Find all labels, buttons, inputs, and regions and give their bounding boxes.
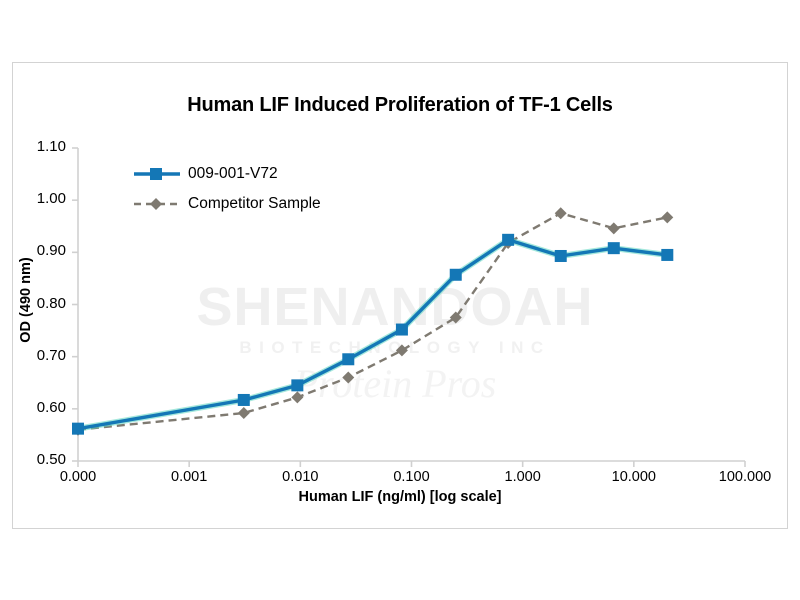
data-point-marker — [450, 269, 462, 281]
x-axis-tick-label: 10.000 — [589, 469, 679, 485]
legend-item-series-1: Competitor Sample — [133, 195, 321, 213]
data-point-marker — [661, 249, 673, 261]
y-axis-tick-label: 1.00 — [20, 190, 66, 207]
y-axis-tick-label: 0.70 — [20, 347, 66, 364]
data-point-marker — [555, 250, 567, 262]
x-axis-title: Human LIF (ng/ml) [log scale] — [0, 489, 800, 505]
legend-label-series-0: 009-001-V72 — [188, 165, 278, 183]
y-axis-tick-label: 0.60 — [20, 399, 66, 416]
data-point-marker — [342, 353, 354, 365]
y-axis-tick-label: 0.80 — [20, 295, 66, 312]
data-point-marker — [291, 379, 303, 391]
data-point-marker — [608, 242, 620, 254]
x-axis-tick-label: 0.010 — [255, 469, 345, 485]
data-point-marker — [342, 372, 354, 384]
series-line-1 — [78, 213, 667, 430]
series-line-0 — [78, 240, 667, 429]
y-axis-tick-label: 0.50 — [20, 451, 66, 468]
series-line-glow — [78, 240, 667, 429]
data-point-marker — [396, 324, 408, 336]
data-point-marker — [661, 211, 673, 223]
x-axis-tick-label: 0.100 — [367, 469, 457, 485]
data-point-marker — [396, 344, 408, 356]
y-axis-tick-label: 1.10 — [20, 138, 66, 155]
data-point-marker — [238, 394, 250, 406]
data-point-marker — [291, 391, 303, 403]
legend-swatch-series-1 — [133, 196, 181, 212]
data-point-marker — [238, 407, 250, 419]
x-axis-tick-label: 0.000 — [33, 469, 123, 485]
x-axis-tick-label: 0.001 — [144, 469, 234, 485]
data-point-marker — [608, 222, 620, 234]
data-point-marker — [72, 423, 84, 435]
legend-item-series-0: 009-001-V72 — [133, 165, 278, 183]
x-axis-tick-label: 100.000 — [700, 469, 790, 485]
y-axis-tick-label: 0.90 — [20, 242, 66, 259]
legend-swatch-series-0 — [133, 166, 181, 182]
chart-canvas — [0, 0, 800, 600]
data-point-marker — [555, 207, 567, 219]
legend-label-series-1: Competitor Sample — [188, 195, 321, 213]
x-axis-tick-label: 1.000 — [478, 469, 568, 485]
data-point-marker — [502, 234, 514, 246]
chart-figure: SHENANDOAH BIOTECHNOLOGY INC Protein Pro… — [0, 0, 800, 600]
